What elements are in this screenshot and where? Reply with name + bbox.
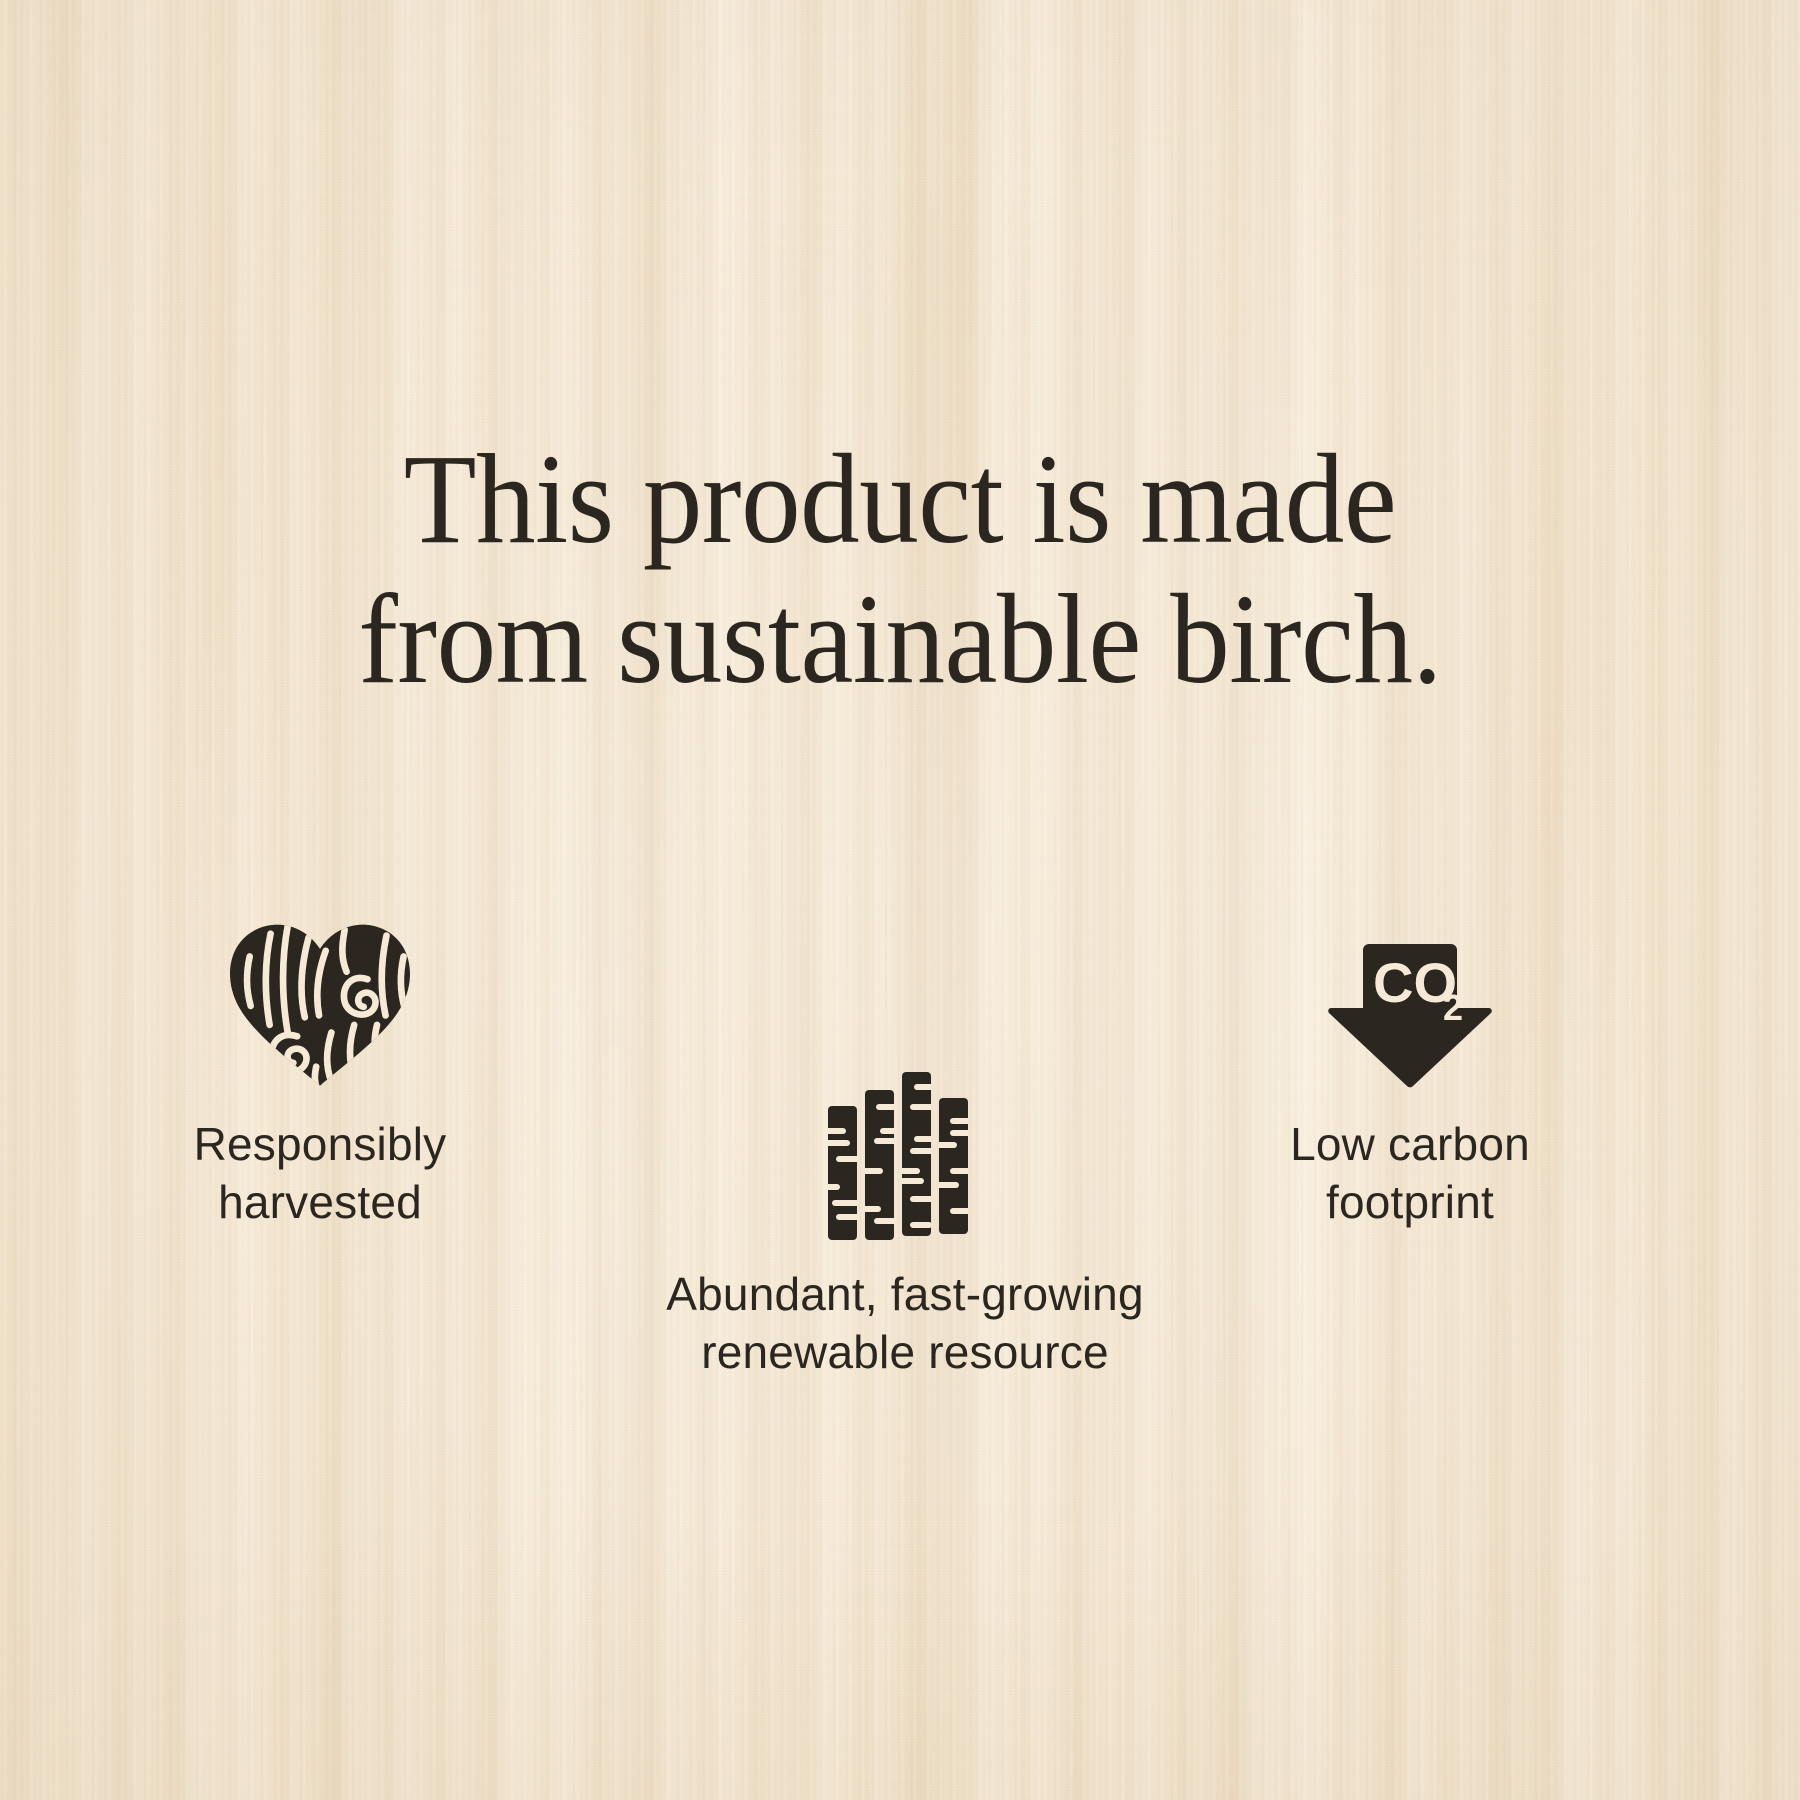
sustainable-birch-poster: This product is made from sustainable bi… (0, 0, 1800, 1800)
co2-subscript: 2 (1443, 987, 1463, 1028)
headline-line-1: This product is made (63, 430, 1737, 570)
feature-caption: Abundant, fast-growing renewable resourc… (585, 1266, 1225, 1382)
feature-responsibly-harvested: Responsibly harvested (110, 900, 530, 1232)
headline-line-2: from sustainable birch. (63, 570, 1737, 710)
feature-low-carbon-footprint: CO 2 Low carbon footprint (1130, 900, 1690, 1232)
feature-caption: Responsibly harvested (110, 1116, 530, 1232)
birch-trees-icon (824, 1072, 986, 1240)
feature-icon-wrap: CO 2 (1130, 900, 1690, 1090)
feature-renewable-resource: Abundant, fast-growing renewable resourc… (585, 1030, 1225, 1382)
feature-list: Responsibly harvested (0, 900, 1800, 1420)
page-title: This product is made from sustainable bi… (63, 430, 1737, 709)
wood-grain-heart-icon (225, 918, 415, 1090)
feature-icon-wrap (110, 900, 530, 1090)
poster-content: This product is made from sustainable bi… (0, 0, 1800, 1800)
feature-icon-wrap (585, 1030, 1225, 1240)
feature-caption: Low carbon footprint (1130, 1116, 1690, 1232)
co2-down-arrow-icon: CO 2 (1325, 940, 1495, 1090)
